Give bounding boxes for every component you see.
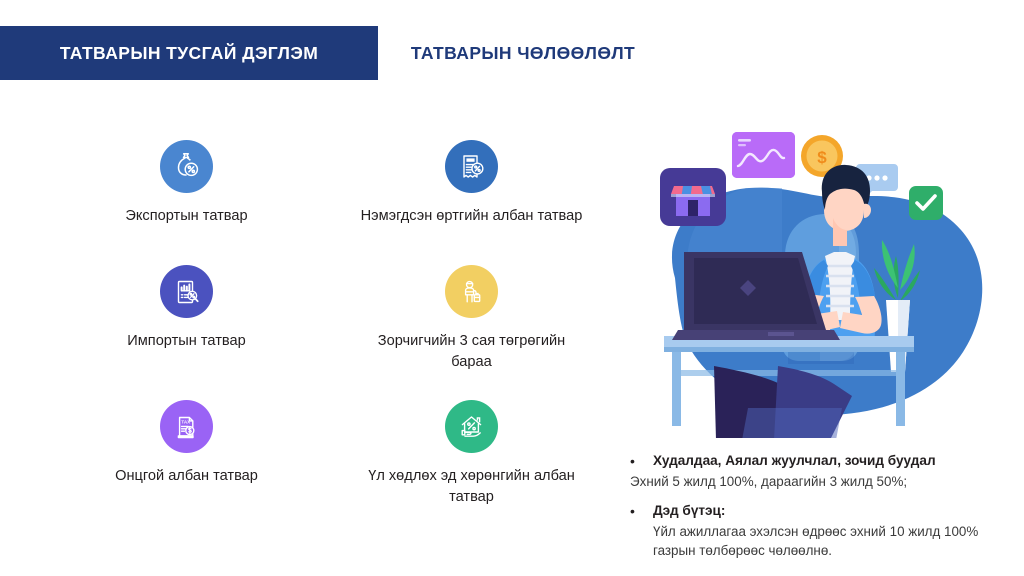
analytics-chart-card-icon xyxy=(732,132,795,178)
benefit-item: • Худалдаа, Аялал жуулчлал, зочид буудал… xyxy=(630,452,1010,491)
slide-root: ТАТВАРЫН ТУСГАЙ ДЭГЛЭМ ТАТВАРЫН ЧӨЛӨӨЛӨЛ… xyxy=(0,0,1024,576)
tax-item-vat[interactable]: Нэмэгдсэн өртгийн албан татвар xyxy=(329,140,614,265)
benefit-title: Худалдаа, Аялал жуулчлал, зочид буудал xyxy=(644,452,936,470)
house-percent-hand-icon xyxy=(445,400,498,453)
tax-type-grid: Экспортын татвар Нэмэгдсэн өртгийн албан… xyxy=(44,140,614,530)
tax-item-excise[interactable]: TAX Онцгой албан татвар xyxy=(44,400,329,530)
tax-document-dollar-icon: TAX xyxy=(160,400,213,453)
tax-item-export[interactable]: Экспортын татвар xyxy=(44,140,329,265)
report-magnifier-icon xyxy=(160,265,213,318)
bullet-marker-icon: • xyxy=(630,452,644,471)
invoice-percent-icon xyxy=(445,140,498,193)
tab-bar: ТАТВАРЫН ТУСГАЙ ДЭГЛЭМ ТАТВАРЫН ЧӨЛӨӨЛӨЛ… xyxy=(0,26,668,80)
tax-item-label: Зорчигчийн 3 сая төгрөгийн бараа xyxy=(357,331,587,372)
tax-item-label: Экспортын татвар xyxy=(125,206,247,227)
tax-grid-row: Импортын татвар Зорчигчийн xyxy=(44,265,614,400)
traveler-luggage-icon xyxy=(445,265,498,318)
tax-item-immovable-property[interactable]: Үл хөдлөх эд хөрөнгийн албан татвар xyxy=(329,400,614,530)
benefit-body: Үйл ажиллагаа эхэлсэн өдрөөс эхний 10 жи… xyxy=(630,522,1010,560)
bullet-marker-icon: • xyxy=(630,502,644,521)
benefit-title: Дэд бүтэц: xyxy=(644,502,725,520)
benefit-body: Эхний 5 жилд 100%, дараагийн 3 жилд 50%; xyxy=(630,472,1010,491)
tax-item-label: Онцгой албан татвар xyxy=(115,466,258,487)
money-bag-percent-icon xyxy=(160,140,213,193)
benefit-item: • Дэд бүтэц: Үйл ажиллагаа эхэлсэн өдрөө… xyxy=(630,502,1010,560)
tab-tatvaryn-chuluulult[interactable]: ТАТВАРЫН ЧӨЛӨӨЛӨЛТ xyxy=(378,26,668,80)
benefits-list: • Худалдаа, Аялал жуулчлал, зочид буудал… xyxy=(630,452,1010,571)
tab-tusgai-deglem[interactable]: ТАТВАРЫН ТУСГАЙ ДЭГЛЭМ xyxy=(0,26,378,80)
store-card-icon xyxy=(660,168,726,226)
tax-item-passenger-goods[interactable]: Зорчигчийн 3 сая төгрөгийн бараа xyxy=(329,265,614,400)
svg-text:$: $ xyxy=(817,148,827,167)
man-working-on-laptop-illustration: $ xyxy=(628,108,1020,438)
tax-item-import[interactable]: Импортын татвар xyxy=(44,265,329,400)
svg-text:TAX: TAX xyxy=(181,419,191,424)
tab-inactive-label: ТАТВАРЫН ЧӨЛӨӨЛӨЛТ xyxy=(411,43,635,64)
tax-item-label: Нэмэгдсэн өртгийн албан татвар xyxy=(361,206,583,227)
tax-grid-row: Экспортын татвар Нэмэгдсэн өртгийн албан… xyxy=(44,140,614,265)
tab-active-label: ТАТВАРЫН ТУСГАЙ ДЭГЛЭМ xyxy=(60,43,318,64)
tax-grid-row: TAX Онцгой албан татвар xyxy=(44,400,614,530)
green-check-icon xyxy=(909,186,943,220)
tax-item-label: Үл хөдлөх эд хөрөнгийн албан татвар xyxy=(357,466,587,507)
tax-item-label: Импортын татвар xyxy=(127,331,245,352)
